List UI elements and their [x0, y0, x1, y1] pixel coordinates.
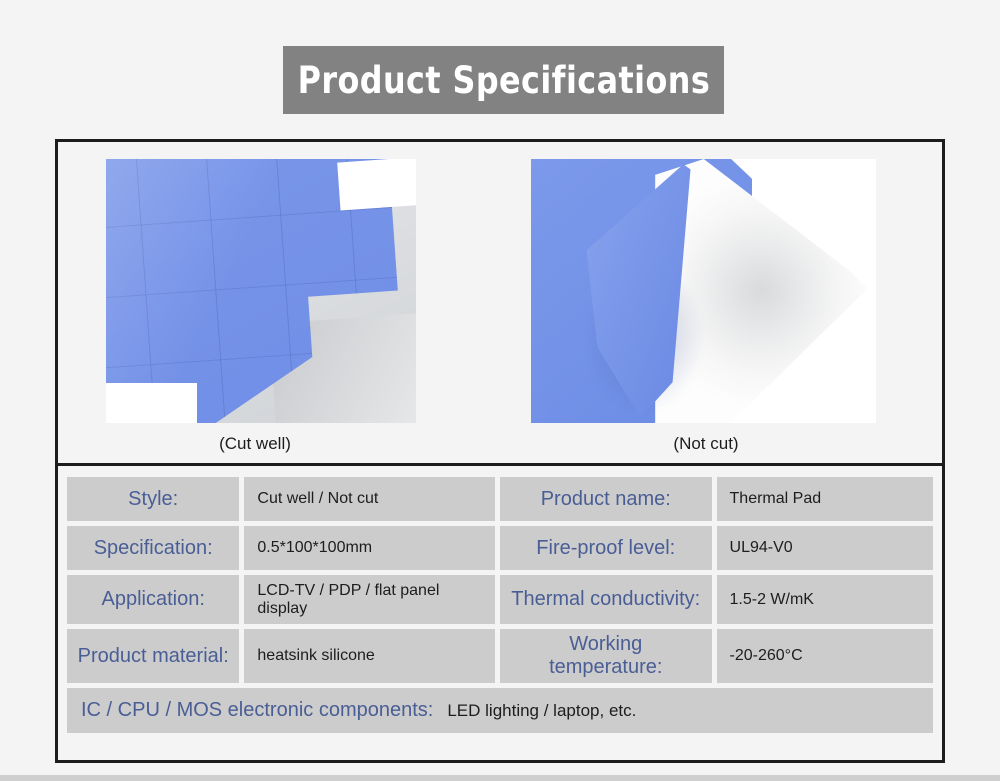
spec-label-style: Style: [67, 477, 239, 521]
spec-row: Specification: 0.5*100*100mm Fire-proof … [67, 526, 933, 570]
spec-label-fire-proof-level: Fire-proof level: [500, 526, 712, 570]
photo-caption-uncut: (Not cut) [500, 434, 942, 454]
spec-row: Product material: heatsink silicone Work… [67, 629, 933, 683]
spec-value-fire-proof-level: UL94-V0 [717, 526, 933, 570]
spec-value-electronic-components: LED lighting / laptop, etc. [447, 701, 636, 721]
page-header-banner: Product Specifications [283, 46, 724, 114]
bottom-edge-strip [0, 775, 1000, 781]
spec-label-thermal-conductivity: Thermal conductivity: [500, 575, 712, 624]
spec-label-electronic-components: IC / CPU / MOS electronic components: [81, 699, 433, 722]
spec-label-working-temperature: Working temperature: [500, 629, 712, 683]
spec-value-working-temperature: -20-260°C [717, 629, 933, 683]
spec-value-thermal-conductivity: 1.5-2 W/mK [717, 575, 933, 624]
spec-value-product-name: Thermal Pad [717, 477, 933, 521]
photo-white-corner-top [338, 159, 416, 210]
product-photo-cell-uncut: (Not cut) [500, 142, 942, 466]
spec-label-product-material: Product material: [67, 629, 239, 683]
spec-row: Style: Cut well / Not cut Product name: … [67, 477, 933, 521]
spec-label-product-name: Product name: [500, 477, 712, 521]
spec-value-specification: 0.5*100*100mm [244, 526, 495, 570]
thermal-pad-uncut-photo [531, 159, 876, 423]
page-title: Product Specifications [297, 59, 710, 102]
spec-value-product-material: heatsink silicone [244, 629, 495, 683]
content-frame: (Cut well) (Not cut) [55, 139, 945, 763]
spec-row: Application: LCD-TV / PDP / flat panel d… [67, 575, 933, 624]
spec-label-application: Application: [67, 575, 239, 624]
spec-value-style: Cut well / Not cut [244, 477, 495, 521]
product-photo-area: (Cut well) (Not cut) [58, 142, 942, 466]
spec-row-electronic-components: IC / CPU / MOS electronic components: LE… [67, 688, 933, 733]
spec-label-specification: Specification: [67, 526, 239, 570]
spec-value-application: LCD-TV / PDP / flat panel display [244, 575, 495, 624]
thermal-pad-cut-photo [106, 159, 416, 423]
specification-table: Style: Cut well / Not cut Product name: … [58, 469, 942, 742]
photo-caption-cut: (Cut well) [58, 434, 500, 454]
product-specifications-page: Product Specifications (Cut well) [0, 0, 1000, 781]
photo-white-corner-bottom [106, 383, 197, 423]
product-photo-cell-cut: (Cut well) [58, 142, 500, 466]
